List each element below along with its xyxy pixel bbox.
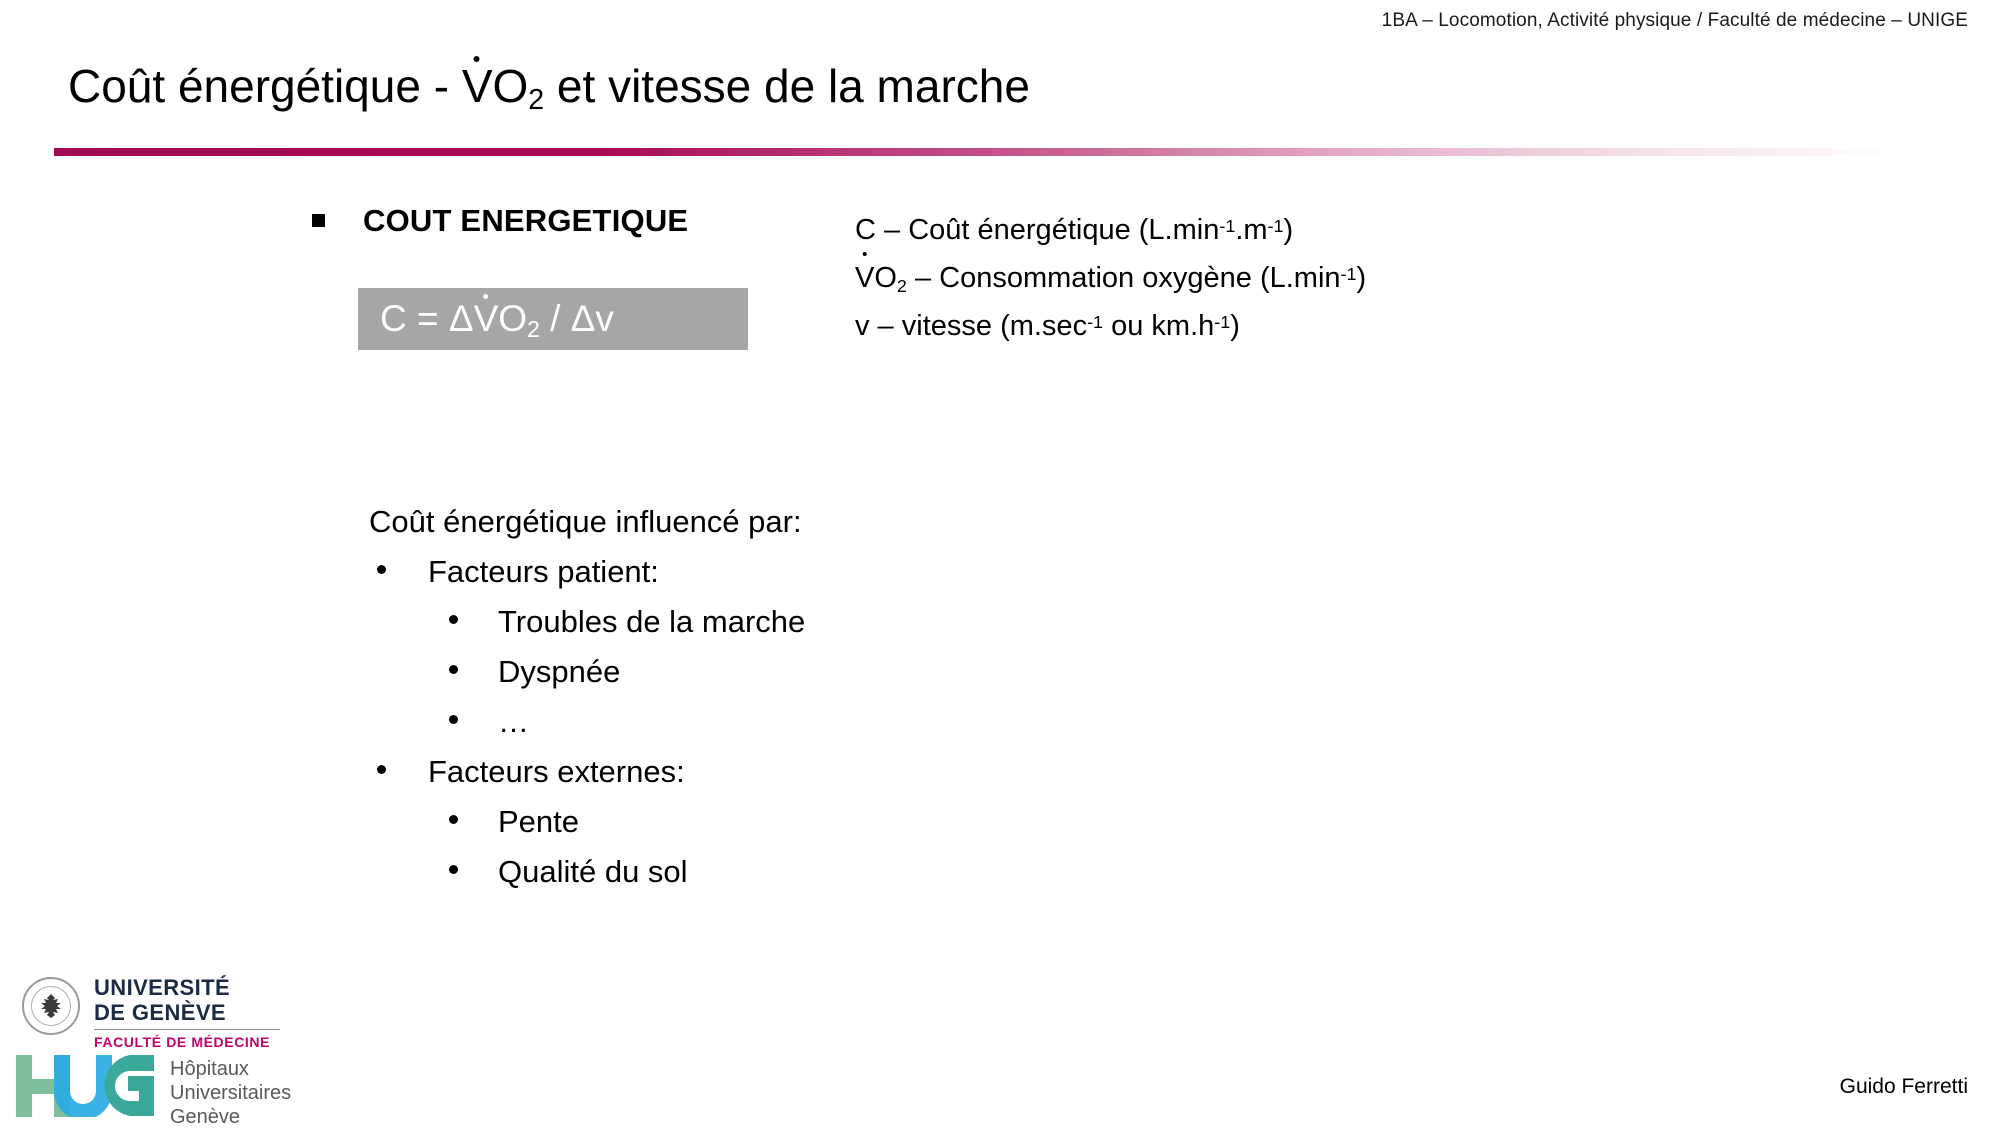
formula-box: C = ΔVO2 / Δv	[358, 288, 748, 350]
formula-text: C = ΔVO2 / Δv	[380, 298, 614, 340]
legend-name-1: Coût énergétique (L.min	[908, 214, 1219, 246]
legend-close-3: )	[1230, 310, 1240, 342]
round-bullet-icon	[449, 715, 458, 724]
legend-line-speed: v – vitesse (m.sec-1 ou km.h-1)	[855, 304, 1366, 352]
list-item: …	[449, 697, 805, 747]
hug-line-3: Genève	[170, 1105, 291, 1129]
formula-v-dot-symbol: V	[474, 298, 499, 340]
legend-mid-3: ou km.h	[1103, 310, 1214, 342]
hug-wordmark: Hôpitaux Universitaires Genève	[170, 1057, 291, 1129]
sub-item-label: …	[498, 697, 529, 747]
title-divider	[54, 148, 1894, 156]
legend-symbol-c: C	[855, 214, 876, 246]
formula-o-letter: O	[498, 298, 527, 339]
sub-item-label: Qualité du sol	[498, 847, 688, 897]
legend-line-vo2: VO2 – Consommation oxygène (L.min-1)	[855, 256, 1366, 304]
sub-item-label: Dyspnée	[498, 647, 620, 697]
unige-line-2: DE GENÈVE	[94, 1000, 280, 1025]
list-item: Qualité du sol	[449, 847, 805, 897]
title-text-before: Coût énergétique -	[68, 60, 462, 112]
sub-item-label: Pente	[498, 797, 579, 847]
sub-item-label: Troubles de la marche	[498, 597, 805, 647]
title-text-after: et vitesse de la marche	[544, 60, 1030, 112]
influences-intro: Coût énergétique influencé par:	[369, 497, 805, 547]
legend-symbol-v: v	[855, 310, 870, 342]
round-bullet-icon	[449, 815, 458, 824]
title-subscript: 2	[528, 84, 544, 116]
round-bullet-icon	[449, 865, 458, 874]
legend-exp-2a: -1	[1341, 264, 1357, 284]
legend-name-3: vitesse (m.sec	[902, 310, 1087, 342]
legend-line-cost: C – Coût énergétique (L.min-1.m-1)	[855, 208, 1366, 256]
group-label-external: Facteurs externes:	[428, 747, 685, 797]
hug-line-1: Hôpitaux	[170, 1057, 291, 1081]
legend-exp-1b: -1	[1268, 216, 1284, 236]
list-item: Dyspnée	[449, 647, 805, 697]
legend-v-dot-symbol: V	[855, 256, 874, 301]
legend-close-2: )	[1357, 262, 1367, 294]
unige-line-1: UNIVERSITÉ	[94, 975, 280, 1000]
list-item: Facteurs externes:	[377, 747, 805, 797]
eagle-crest-icon	[38, 992, 64, 1020]
formula-part2: / Δv	[540, 298, 614, 339]
legend-o-letter: O	[874, 262, 897, 294]
square-bullet-icon	[312, 214, 325, 227]
round-bullet-icon	[377, 565, 386, 574]
author-name: Guido Ferretti	[1840, 1075, 1968, 1099]
formula-subscript: 2	[527, 316, 540, 342]
legend-subscript-2: 2	[897, 276, 907, 296]
unige-faculty-label: FACULTÉ DE MÉDECINE	[94, 1034, 280, 1050]
cost-heading-row: COUT ENERGETIQUE	[312, 203, 688, 239]
round-bullet-icon	[449, 665, 458, 674]
legend-exp-1a: -1	[1219, 216, 1235, 236]
cost-heading-label: COUT ENERGETIQUE	[363, 203, 688, 239]
legend-close-1: )	[1284, 214, 1294, 246]
list-item: Facteurs patient:	[377, 547, 805, 597]
symbol-legend: C – Coût énergétique (L.min-1.m-1) VO2 –…	[855, 208, 1366, 352]
page-title: Coût énergétique - VO2 et vitesse de la …	[68, 62, 1030, 110]
unige-rule	[94, 1029, 280, 1030]
legend-dash-3: –	[870, 310, 902, 342]
legend-exp-3a: -1	[1087, 312, 1103, 332]
hug-mark-icon	[16, 1055, 154, 1117]
title-o-letter: O	[493, 60, 529, 112]
legend-mid-1: .m	[1235, 214, 1267, 246]
unige-wordmark: UNIVERSITÉ DE GENÈVE FACULTÉ DE MÉDECINE	[94, 975, 280, 1050]
group-label-patient: Facteurs patient:	[428, 547, 659, 597]
legend-dash-1: –	[876, 214, 908, 246]
formula-part1: C = Δ	[380, 298, 474, 339]
hug-logo: Hôpitaux Universitaires Genève	[16, 1055, 291, 1129]
influences-list: Coût énergétique influencé par: Facteurs…	[369, 497, 805, 897]
hug-line-2: Universitaires	[170, 1081, 291, 1105]
list-item: Troubles de la marche	[449, 597, 805, 647]
course-header: 1BA – Locomotion, Activité physique / Fa…	[1382, 10, 1968, 32]
legend-dash-2: –	[907, 262, 939, 294]
unige-logo: UNIVERSITÉ DE GENÈVE FACULTÉ DE MÉDECINE	[22, 975, 280, 1050]
v-dot-symbol: V	[462, 62, 493, 110]
round-bullet-icon	[377, 765, 386, 774]
round-bullet-icon	[449, 615, 458, 624]
legend-exp-3b: -1	[1214, 312, 1230, 332]
list-item: Pente	[449, 797, 805, 847]
unige-seal-icon	[22, 977, 80, 1035]
legend-name-2: Consommation oxygène (L.min	[939, 262, 1340, 294]
